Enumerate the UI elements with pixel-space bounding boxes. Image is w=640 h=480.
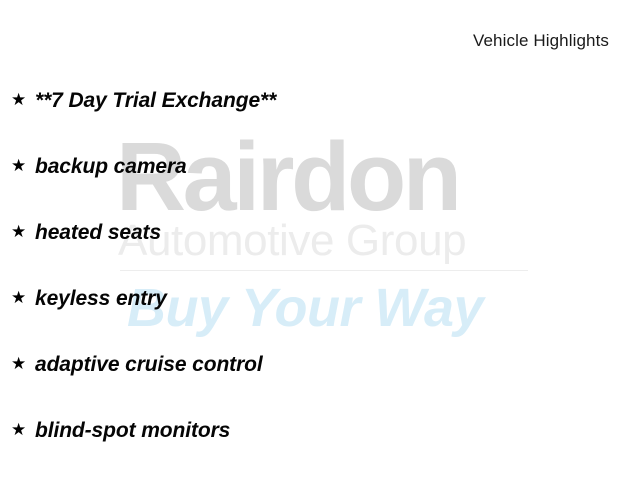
page-title: Vehicle Highlights [473,31,609,51]
list-item-label: heated seats [35,219,161,246]
list-item-label: **7 Day Trial Exchange** [35,87,276,114]
list-item-label: blind-spot monitors [35,417,230,444]
list-item: ★ keyless entry [0,285,640,351]
star-bullet-icon: ★ [11,219,35,246]
list-item-label: backup camera [35,153,187,180]
star-bullet-icon: ★ [11,153,35,180]
list-item: ★ heated seats [0,219,640,285]
content-layer: Vehicle Highlights ★ **7 Day Trial Excha… [0,0,640,480]
list-item-label: adaptive cruise control [35,351,263,378]
list-item: ★ blind-spot monitors [0,417,640,480]
star-bullet-icon: ★ [11,417,35,444]
vehicle-highlights-list: ★ **7 Day Trial Exchange** ★ backup came… [0,87,640,480]
star-bullet-icon: ★ [11,351,35,378]
star-bullet-icon: ★ [11,285,35,312]
list-item: ★ adaptive cruise control [0,351,640,417]
list-item: ★ backup camera [0,153,640,219]
star-bullet-icon: ★ [11,87,35,114]
list-item-label: keyless entry [35,285,167,312]
list-item: ★ **7 Day Trial Exchange** [0,87,640,153]
vehicle-highlights-page: Rairdon Automotive Group Buy Your Way Ve… [0,0,640,480]
